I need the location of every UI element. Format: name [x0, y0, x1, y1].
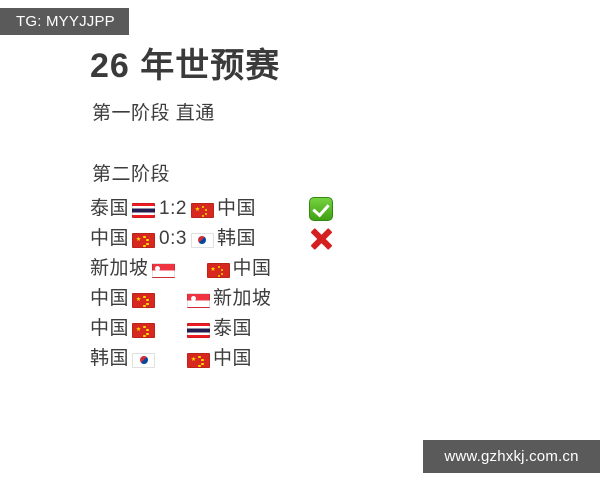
- page-title: 26 年世预赛: [90, 44, 570, 88]
- china-flag-icon: [132, 323, 155, 338]
- home-team-name: 新加坡: [90, 254, 149, 284]
- match-row: 中国0:3韩国: [90, 224, 570, 254]
- site-url-watermark: www.gzhxkj.com.cn: [423, 440, 600, 473]
- match-list: 泰国1:2中国中国0:3韩国新加坡中国中国新加坡中国泰国韩国中国: [90, 194, 570, 374]
- match-line: 中国0:3韩国: [90, 224, 256, 254]
- match-line: 中国泰国: [90, 314, 252, 344]
- away-team-name: 韩国: [217, 224, 256, 254]
- home-team-name: 中国: [90, 224, 129, 254]
- match-line: 新加坡中国: [90, 254, 272, 284]
- match-row: 泰国1:2中国: [90, 194, 570, 224]
- home-team-name: 中国: [90, 314, 129, 344]
- match-result-marker: [308, 196, 334, 222]
- south-korea-flag-icon: [191, 233, 214, 248]
- match-score: 1:2: [158, 194, 188, 224]
- away-team-name: 中国: [217, 194, 256, 224]
- match-row: 韩国中国: [90, 344, 570, 374]
- away-team-name: 中国: [213, 344, 252, 374]
- singapore-flag-icon: [187, 293, 210, 308]
- singapore-flag-icon: [152, 263, 175, 278]
- home-team-name: 中国: [90, 284, 129, 314]
- match-result-marker: [308, 226, 334, 252]
- away-team-name: 新加坡: [213, 284, 272, 314]
- match-row: 中国新加坡: [90, 284, 570, 314]
- home-team-name: 泰国: [90, 194, 129, 224]
- away-team-name: 中国: [233, 254, 272, 284]
- china-flag-icon: [132, 233, 155, 248]
- china-flag-icon: [207, 263, 230, 278]
- channel-badge: TG: MYYJJPP: [0, 8, 129, 35]
- site-url-label: www.gzhxkj.com.cn: [444, 448, 578, 465]
- away-team-name: 泰国: [213, 314, 252, 344]
- thailand-flag-icon: [187, 323, 210, 338]
- match-line: 泰国1:2中国: [90, 194, 256, 224]
- match-score: 0:3: [158, 224, 188, 254]
- faint-watermark: [418, 392, 578, 432]
- main-content: 26 年世预赛 第一阶段 直通 第二阶段 泰国1:2中国中国0:3韩国新加坡中国…: [90, 44, 570, 374]
- china-flag-icon: [132, 293, 155, 308]
- home-team-name: 韩国: [90, 344, 129, 374]
- south-korea-flag-icon: [132, 353, 155, 368]
- match-line: 韩国中国: [90, 344, 252, 374]
- china-flag-icon: [191, 203, 214, 218]
- green-check-icon: [309, 197, 333, 221]
- thailand-flag-icon: [132, 203, 155, 218]
- match-line: 中国新加坡: [90, 284, 272, 314]
- stage-one-label: 第一阶段 直通: [92, 100, 570, 128]
- match-row: 新加坡中国: [90, 254, 570, 284]
- channel-badge-label: TG: MYYJJPP: [16, 13, 115, 30]
- china-flag-icon: [187, 353, 210, 368]
- match-row: 中国泰国: [90, 314, 570, 344]
- stage-two-heading: 第二阶段: [92, 162, 570, 188]
- red-cross-icon: [309, 227, 333, 251]
